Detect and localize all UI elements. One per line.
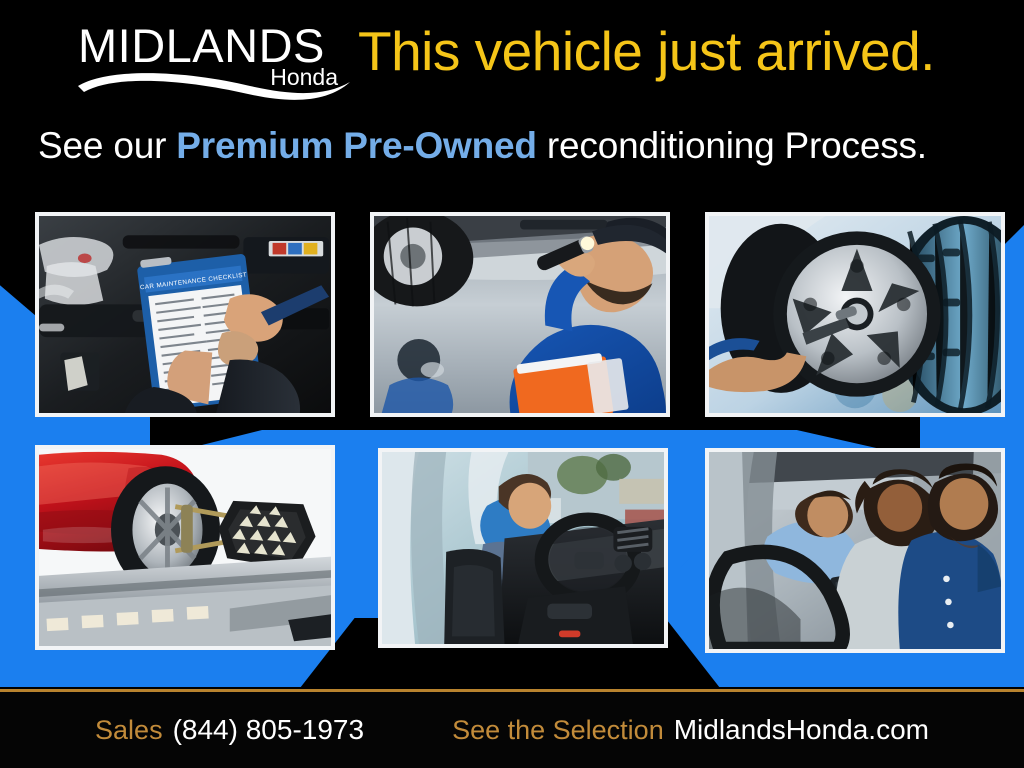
promo-banner: MIDLANDS Honda This vehicle just arrived… [0,0,1024,768]
subheadline-suffix: reconditioning Process. [537,125,927,166]
website-url[interactable]: MidlandsHonda.com [674,714,929,746]
wheel-alignment-photo[interactable] [35,445,335,650]
subheadline: See our Premium Pre-Owned reconditioning… [38,126,927,167]
logo-subbrand: Honda [270,66,338,89]
subheadline-accent: Premium Pre-Owned [176,125,537,166]
wheel-tire-service-photo[interactable] [705,212,1005,417]
banner-footer: Sales (844) 805-1973 See the Selection M… [0,692,1024,768]
selection-label: See the Selection [452,715,664,746]
sales-label: Sales [95,715,163,746]
midlands-honda-logo[interactable]: MIDLANDS Honda [78,22,346,102]
banner-header: MIDLANDS Honda This vehicle just arrived… [0,0,1024,190]
sales-phone[interactable]: (844) 805-1973 [173,714,364,746]
customer-delivery-photo[interactable] [705,448,1005,653]
selection-link[interactable]: See the Selection MidlandsHonda.com [452,714,929,746]
subheadline-prefix: See our [38,125,176,166]
interior-detailing-photo[interactable] [378,448,668,648]
undercarriage-inspection-photo[interactable] [370,212,670,417]
sales-contact[interactable]: Sales (844) 805-1973 [95,714,364,746]
headline: This vehicle just arrived. [358,23,935,81]
inspection-checklist-photo[interactable]: CAR MAINTENANCE CHECKLIST [35,212,335,417]
